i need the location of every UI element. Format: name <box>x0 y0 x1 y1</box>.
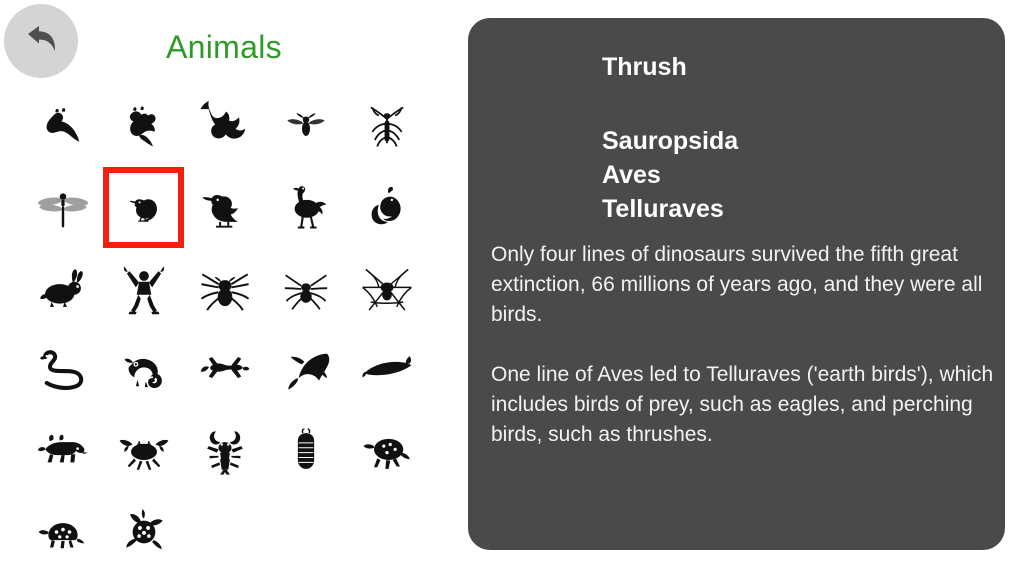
ostrich-icon <box>280 182 332 234</box>
info-description: Only four lines of dinosaurs survived th… <box>491 240 996 450</box>
bat-flying-icon <box>199 101 251 153</box>
grid-item-lobster[interactable] <box>184 410 265 491</box>
tortoise-icon <box>37 506 89 558</box>
grid-item-tarantula[interactable] <box>184 248 265 329</box>
grid-item-sea-turtle[interactable] <box>103 491 184 572</box>
grid-item-spider-web[interactable] <box>346 248 427 329</box>
mantis-icon <box>361 101 413 153</box>
grid-item-mantis[interactable] <box>346 86 427 167</box>
lizard-icon <box>199 344 251 396</box>
spider-web-icon <box>361 263 413 315</box>
bat-wings-icon <box>118 101 170 153</box>
grid-item-lizard[interactable] <box>184 329 265 410</box>
page-title: Animals <box>0 28 448 66</box>
grid-item-ostrich[interactable] <box>265 167 346 248</box>
description-paragraph-1: Only four lines of dinosaurs survived th… <box>491 240 996 330</box>
woodlouse-icon <box>280 425 332 477</box>
thrush-icon <box>124 188 164 228</box>
grid-item-dolphin[interactable] <box>265 329 346 410</box>
grid-item-rabbit[interactable] <box>22 248 103 329</box>
grid-item-snake[interactable] <box>22 329 103 410</box>
info-title: Thrush <box>602 52 687 82</box>
grid-item-boar[interactable] <box>22 410 103 491</box>
crow-icon <box>199 182 251 234</box>
info-panel: Thrush Sauropsida Aves Telluraves Only f… <box>468 18 1005 550</box>
grid-item-spider[interactable] <box>265 248 346 329</box>
grid-cell-empty <box>265 491 346 572</box>
grid-item-woodlouse[interactable] <box>265 410 346 491</box>
lobster-icon <box>199 425 251 477</box>
description-paragraph-2: One line of Aves led to Telluraves ('ear… <box>491 360 996 450</box>
taxonomy-clade: Telluraves <box>602 192 738 226</box>
tarantula-icon <box>199 263 251 315</box>
rabbit-icon <box>37 263 89 315</box>
spider-icon <box>280 263 332 315</box>
human-icon <box>118 263 170 315</box>
grid-item-bat-flying[interactable] <box>184 86 265 167</box>
dolphin-icon <box>280 344 332 396</box>
whale-icon <box>361 344 413 396</box>
grid-item-squirrel[interactable] <box>346 167 427 248</box>
chameleon-icon <box>118 344 170 396</box>
grid-item-chameleon[interactable] <box>103 329 184 410</box>
grid-item-crab[interactable] <box>103 410 184 491</box>
grid-item-crow[interactable] <box>184 167 265 248</box>
bee-icon <box>280 101 332 153</box>
grid-item-whale[interactable] <box>346 329 427 410</box>
grid-cell-empty <box>184 491 265 572</box>
crab-icon <box>118 425 170 477</box>
grid-item-bat-wings[interactable] <box>103 86 184 167</box>
grid-cell-empty <box>346 491 427 572</box>
snake-icon <box>37 344 89 396</box>
grid-item-tortoise[interactable] <box>22 491 103 572</box>
boar-icon <box>37 425 89 477</box>
sea-turtle-icon <box>118 506 170 558</box>
grid-item-bee[interactable] <box>265 86 346 167</box>
turtle-icon <box>361 425 413 477</box>
grid-item-human[interactable] <box>103 248 184 329</box>
taxonomy-order: Aves <box>602 158 738 192</box>
grid-item-bat-perched[interactable] <box>22 86 103 167</box>
squirrel-icon <box>361 182 413 234</box>
dragonfly-icon <box>37 182 89 234</box>
taxonomy-list: Sauropsida Aves Telluraves <box>602 124 738 226</box>
bat-perched-icon <box>37 101 89 153</box>
grid-item-dragonfly[interactable] <box>22 167 103 248</box>
taxonomy-class: Sauropsida <box>602 124 738 158</box>
grid-item-turtle[interactable] <box>346 410 427 491</box>
grid-item-thrush[interactable] <box>103 167 184 248</box>
animal-grid <box>22 86 432 572</box>
